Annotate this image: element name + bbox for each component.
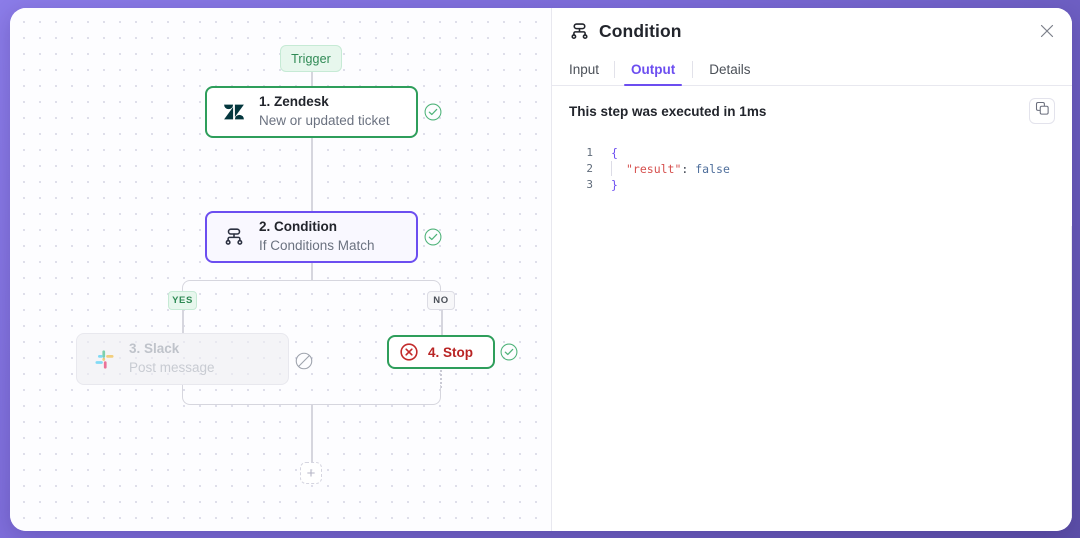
connector-join-left xyxy=(182,385,312,405)
node-subtitle: If Conditions Match xyxy=(259,238,375,255)
code-line-number: 1 xyxy=(569,145,593,161)
connector-condition-down xyxy=(311,263,313,281)
connector-zendesk-to-condition xyxy=(311,138,313,211)
connector-join-to-add xyxy=(311,405,313,462)
code-line: 2"result": false xyxy=(569,161,1055,177)
execution-time-text: This step was executed in 1ms xyxy=(569,104,766,119)
code-token: } xyxy=(611,178,618,192)
trigger-label: Trigger xyxy=(291,52,331,66)
code-token: { xyxy=(611,146,618,160)
panel-body: This step was executed in 1ms 1{2"result… xyxy=(552,86,1072,531)
app-root: Trigger 1. Zendesk New or updated ticket xyxy=(0,0,1080,538)
stop-x-circle-icon xyxy=(399,342,419,362)
code-indent-guide xyxy=(611,161,622,176)
node-title: 4. Stop xyxy=(428,345,473,360)
tab-label: Details xyxy=(709,62,750,77)
code-line-content: "result": false xyxy=(611,161,730,177)
workflow-node-slack[interactable]: 3. Slack Post message xyxy=(76,333,289,385)
node-title: 1. Zendesk xyxy=(259,94,390,111)
panel-title: Condition xyxy=(599,21,682,42)
code-line: 1{ xyxy=(569,145,1055,161)
check-circle-icon xyxy=(423,227,443,247)
zendesk-logo-icon xyxy=(221,99,247,125)
connector-trigger-to-zendesk xyxy=(311,72,313,86)
node-subtitle: New or updated ticket xyxy=(259,113,390,130)
code-line-content: } xyxy=(611,177,618,193)
node-text: 2. Condition If Conditions Match xyxy=(259,219,375,255)
connector-split-right xyxy=(311,280,441,292)
tab-label: Input xyxy=(569,62,599,77)
tab-output[interactable]: Output xyxy=(614,54,692,85)
tab-details[interactable]: Details xyxy=(692,54,767,85)
workflow-node-zendesk[interactable]: 1. Zendesk New or updated ticket xyxy=(205,86,418,138)
tab-input[interactable]: Input xyxy=(569,54,614,85)
branch-label-no: NO xyxy=(433,295,448,306)
workflow-canvas[interactable]: Trigger 1. Zendesk New or updated ticket xyxy=(10,8,551,531)
code-line-number: 3 xyxy=(569,177,593,193)
node-text: 3. Slack Post message xyxy=(129,341,215,377)
code-line-number: 2 xyxy=(569,161,593,177)
node-subtitle: Post message xyxy=(129,360,215,377)
workflow-node-condition[interactable]: 2. Condition If Conditions Match xyxy=(205,211,418,263)
copy-icon xyxy=(1035,101,1050,121)
branch-badge-yes: YES xyxy=(168,291,197,310)
plus-icon: + xyxy=(307,466,316,481)
copy-button[interactable] xyxy=(1029,98,1055,124)
code-scrollbar[interactable] xyxy=(1071,226,1072,531)
step-details-panel: Condition Input Output Details xyxy=(551,8,1072,531)
close-icon[interactable] xyxy=(1038,22,1056,40)
code-line-content: { xyxy=(611,145,618,161)
app-window: Trigger 1. Zendesk New or updated ticket xyxy=(10,8,1072,531)
check-circle-icon xyxy=(423,102,443,122)
code-token: false xyxy=(688,162,730,176)
condition-branch-icon xyxy=(221,224,247,250)
connector-split-left xyxy=(182,280,312,292)
node-text: 1. Zendesk New or updated ticket xyxy=(259,94,390,130)
execution-summary-row: This step was executed in 1ms xyxy=(569,104,1055,124)
output-code-block[interactable]: 1{2"result": false3} xyxy=(569,145,1055,193)
workflow-node-stop[interactable]: 4. Stop xyxy=(387,335,495,369)
node-title: 3. Slack xyxy=(129,341,215,358)
check-circle-icon xyxy=(499,342,519,362)
branch-badge-no: NO xyxy=(427,291,455,310)
trigger-badge[interactable]: Trigger xyxy=(280,45,342,72)
panel-header: Condition xyxy=(552,8,1072,54)
panel-tabs: Input Output Details xyxy=(552,54,1072,86)
tab-label: Output xyxy=(631,62,675,77)
code-token: "result" xyxy=(626,162,681,176)
condition-branch-icon xyxy=(569,21,590,42)
node-title: 2. Condition xyxy=(259,219,375,236)
code-line: 3} xyxy=(569,177,1055,193)
connector-join-right xyxy=(311,385,441,405)
slack-logo-icon xyxy=(91,346,117,372)
branch-label-yes: YES xyxy=(172,295,193,306)
no-entry-icon xyxy=(294,351,314,371)
add-step-button[interactable]: + xyxy=(300,462,322,484)
